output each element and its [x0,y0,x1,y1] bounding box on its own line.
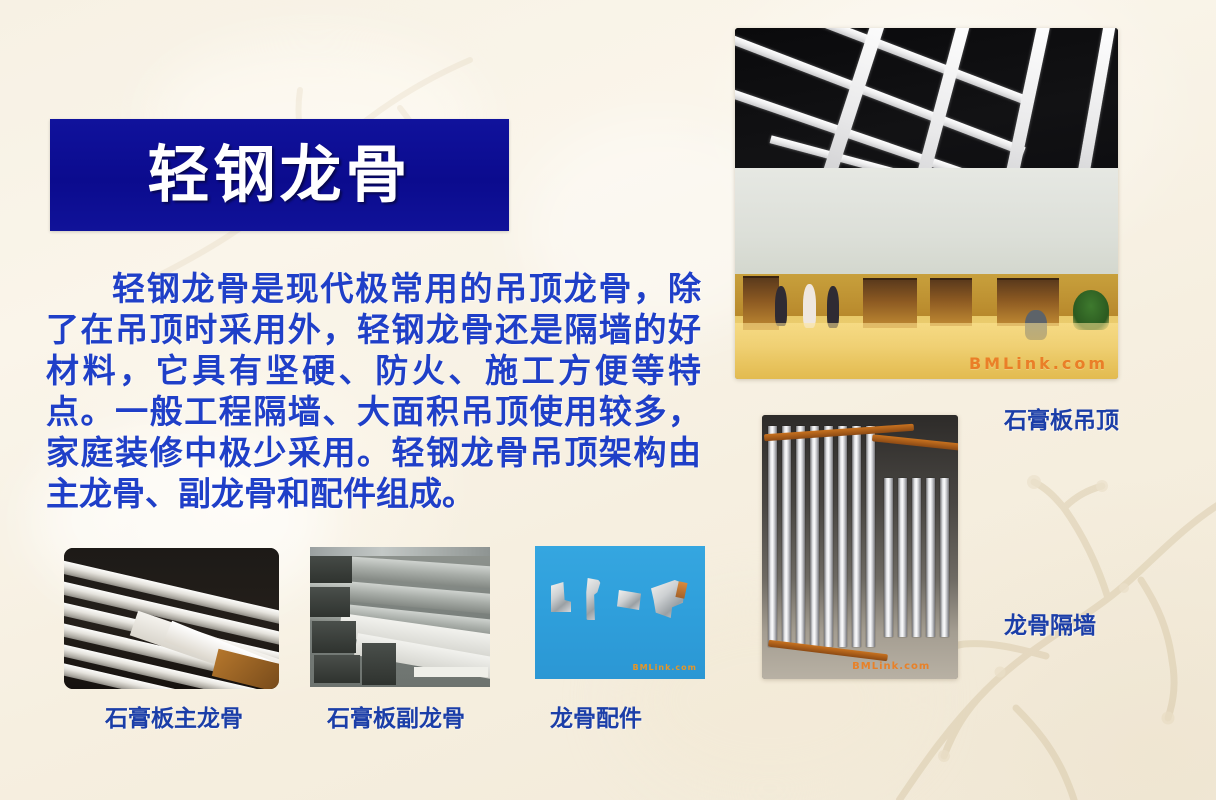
caption-secondary-keel: 石膏板副龙骨 [327,706,465,732]
caption-keel-fittings: 龙骨配件 [550,706,642,732]
page-title: 轻钢龙骨 [147,144,411,206]
slide-canvas: 轻钢龙骨 轻钢龙骨是现代极常用的吊顶龙骨，除了在吊顶时采用外，轻钢龙骨还是隔墙的… [0,0,1216,800]
caption-gypsum-board-ceiling: 石膏板吊顶 [1004,408,1119,434]
watermark-label: BMLink.com [969,354,1108,373]
watermark-label: BMLink.com [852,661,930,672]
photo-gypsum-board-ceiling: BMLink.com [735,28,1118,379]
title-banner: 轻钢龙骨 [50,119,509,231]
watermark-label: BMLink.com [632,663,697,672]
ceiling-wall-surface [735,168,1118,280]
caption-keel-partition: 龙骨隔墙 [1004,613,1096,639]
fittings-background [535,546,705,679]
photo-keel-fittings: BMLink.com [535,546,705,679]
caption-main-keel: 石膏板主龙骨 [105,706,243,732]
photo-main-keel [64,548,279,689]
photo-keel-partition-wall: BMLink.com [762,415,958,679]
body-paragraph: 轻钢龙骨是现代极常用的吊顶龙骨，除了在吊顶时采用外，轻钢龙骨还是隔墙的好材料，它… [46,268,701,514]
shopfront-band [735,274,1118,316]
photo-secondary-keel [310,547,490,687]
